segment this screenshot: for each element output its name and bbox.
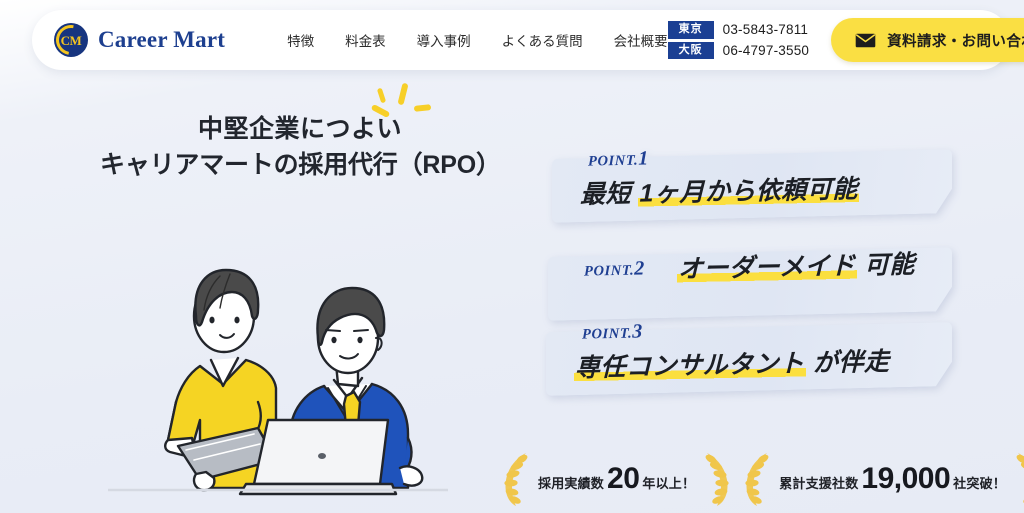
point-card-3-number: 3 — [632, 320, 642, 342]
point-card-1: POINT.1 最短 1ヶ月から依頼可能 — [552, 140, 952, 220]
award-badge-companies: 累計支援社数 19,000 社突破！ — [741, 450, 1024, 508]
main-navigation: 特徴 料金表 導入事例 よくある質問 会社概要 — [287, 30, 668, 50]
point-card-2-highlight: オーダーメイド — [677, 252, 857, 284]
nav-item-company[interactable]: 会社概要 — [614, 30, 668, 50]
logo-monogram: CM — [61, 34, 82, 47]
phone-tag-osaka: 大阪 — [668, 42, 714, 60]
site-header: CM Career Mart 特徴 料金表 導入事例 よくある質問 会社概要 東… — [32, 10, 1010, 70]
sparkle-dash-3 — [371, 104, 391, 118]
sparkle-decoration-icon — [370, 82, 442, 130]
phone-row-osaka: 大阪 06-4797-3550 — [668, 42, 809, 60]
laurel-wreath-left-icon — [741, 450, 775, 508]
award-years-prefix: 採用実績数 — [538, 473, 604, 492]
laurel-wreath-right-icon — [699, 450, 733, 508]
point-card-1-highlight: 1ヶ月から依頼可能 — [638, 175, 858, 208]
laurel-wreath-left-icon — [500, 450, 534, 508]
laurel-wreath-right-icon — [1010, 450, 1024, 508]
two-people-reviewing-documents-illustration-icon — [108, 188, 448, 513]
phone-number-osaka[interactable]: 06-4797-3550 — [723, 43, 809, 58]
point-card-2-number: 2 — [634, 257, 644, 279]
point-card-1-label: POINT.1 — [588, 147, 648, 171]
phone-number-tokyo[interactable]: 03-5843-7811 — [723, 22, 808, 37]
point-card-3-suffix: が伴走 — [806, 348, 890, 378]
brand-logo-link[interactable]: CM Career Mart — [54, 23, 225, 57]
hero-point-list: POINT.1 最短 1ヶ月から依頼可能 POINT.2 オーダーメイド 可能 … — [552, 140, 952, 411]
mail-icon — [855, 33, 876, 48]
career-mart-circle-logo-icon: CM — [54, 23, 88, 57]
nav-item-features[interactable]: 特徴 — [287, 30, 314, 50]
sparkle-dash-4 — [414, 104, 432, 112]
award-badge-years: 採用実績数 20 年以上！ — [500, 450, 733, 508]
award-badges: 採用実績数 20 年以上！ — [500, 450, 1000, 508]
point-card-2-label-text: POINT. — [584, 263, 634, 280]
nav-item-pricing[interactable]: 料金表 — [345, 30, 386, 50]
contact-cta-button[interactable]: 資料請求・お問い合わせ — [831, 18, 1024, 62]
award-years-value: 20 — [607, 464, 639, 494]
award-years-suffix: 年以上！ — [642, 473, 695, 492]
contact-phone-numbers: 東京 03-5843-7811 大阪 06-4797-3550 — [668, 21, 809, 59]
award-companies-value: 19,000 — [861, 464, 950, 494]
award-companies-suffix: 社突破！ — [953, 473, 1006, 492]
contact-cta-label: 資料請求・お問い合わせ — [887, 30, 1024, 51]
point-card-3: POINT.3 専任コンサルタント が伴走 — [546, 313, 952, 393]
point-card-3-label-text: POINT. — [582, 326, 632, 343]
point-card-2-label: POINT.2 — [584, 257, 644, 281]
nav-item-case-studies[interactable]: 導入事例 — [417, 30, 471, 50]
phone-tag-tokyo: 東京 — [668, 21, 714, 39]
point-card-2-text: オーダーメイド 可能 — [677, 245, 915, 286]
nav-item-faq[interactable]: よくある質問 — [502, 30, 583, 50]
point-card-1-label-text: POINT. — [588, 153, 638, 170]
point-card-2-suffix: 可能 — [856, 251, 914, 280]
point-card-3-label: POINT.3 — [582, 320, 642, 344]
phone-row-tokyo: 東京 03-5843-7811 — [668, 21, 809, 39]
point-card-3-highlight: 専任コンサルタント — [574, 349, 806, 382]
brand-name: Career Mart — [98, 27, 225, 53]
hero-illustration — [108, 188, 448, 513]
hero-headline-line-2: キャリアマートの採用代行（RPO） — [100, 148, 500, 184]
point-card-2: POINT.2 オーダーメイド 可能 — [548, 238, 952, 295]
point-card-1-prefix: 最短 — [580, 180, 638, 209]
award-companies-prefix: 累計支援社数 — [779, 473, 858, 492]
sparkle-dash-1 — [377, 88, 386, 104]
point-card-1-text: 最短 1ヶ月から依頼可能 — [580, 169, 859, 211]
sparkle-dash-2 — [397, 83, 408, 106]
award-badge-years-text: 採用実績数 20 年以上！ — [538, 464, 695, 494]
point-card-1-number: 1 — [638, 147, 648, 169]
point-card-3-text: 専任コンサルタント が伴走 — [574, 342, 889, 385]
award-badge-companies-text: 累計支援社数 19,000 社突破！ — [779, 464, 1006, 494]
